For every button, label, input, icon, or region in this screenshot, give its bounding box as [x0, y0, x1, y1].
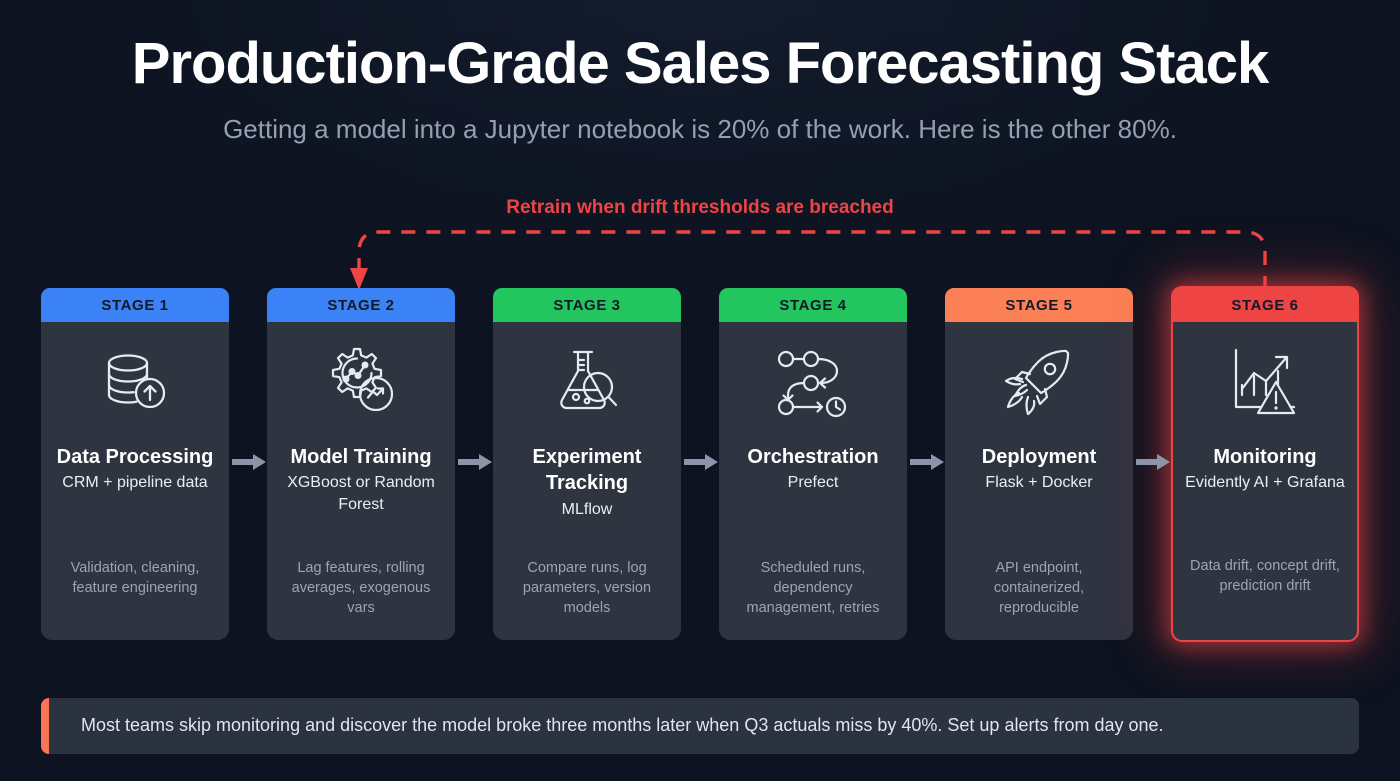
stage-card-1[interactable]: STAGE 1 Data Processing CRM + pipeline d…	[41, 288, 229, 640]
stage-tool-1: CRM + pipeline data	[54, 472, 215, 493]
stage-badge-5: STAGE 5	[945, 288, 1133, 322]
gear-analytics-icon	[323, 336, 399, 428]
connector-arrow-4-5	[910, 454, 944, 470]
stage-tool-2: XGBoost or Random Forest	[267, 472, 455, 515]
stage-desc-3: Compare runs, log parameters, version mo…	[503, 558, 671, 618]
stage-title-2: Model Training	[282, 444, 439, 470]
stage-title-3: Experiment Tracking	[493, 444, 681, 497]
callout-text: Most teams skip monitoring and discover …	[41, 714, 1188, 737]
rocket-icon	[1000, 336, 1078, 428]
stage-desc-6: Data drift, concept drift, prediction dr…	[1183, 556, 1347, 596]
stage-card-2[interactable]: STAGE 2 Model Training XGBoost or Random…	[267, 288, 455, 640]
page-subtitle: Getting a model into a Jupyter notebook …	[0, 114, 1400, 145]
stage-badge-1: STAGE 1	[41, 288, 229, 322]
stage-title-6: Monitoring	[1205, 444, 1324, 470]
stage-title-4: Orchestration	[739, 444, 886, 470]
stage-card-6[interactable]: STAGE 6 Monitoring Evidently AI + Grafan…	[1171, 286, 1359, 642]
stage-badge-4: STAGE 4	[719, 288, 907, 322]
chart-warning-icon	[1226, 336, 1304, 428]
stage-badge-6: STAGE 6	[1173, 288, 1357, 322]
page-title: Production-Grade Sales Forecasting Stack	[0, 34, 1400, 95]
stage-desc-1: Validation, cleaning, feature engineerin…	[51, 558, 219, 598]
stage-badge-2: STAGE 2	[267, 288, 455, 322]
callout-bar: Most teams skip monitoring and discover …	[41, 698, 1359, 754]
database-upload-icon	[98, 336, 172, 428]
stage-tool-5: Flask + Docker	[977, 472, 1100, 493]
connector-arrow-5-6	[1136, 454, 1170, 470]
workflow-clock-icon	[773, 336, 853, 428]
callout-accent-bar	[41, 698, 49, 754]
stage-desc-4: Scheduled runs, dependency management, r…	[729, 558, 897, 618]
stage-card-5[interactable]: STAGE 5 Deployment Flask + Docker API en…	[945, 288, 1133, 640]
connector-arrow-3-4	[684, 454, 718, 470]
stage-tool-4: Prefect	[780, 472, 847, 493]
stage-desc-5: API endpoint, containerized, reproducibl…	[955, 558, 1123, 618]
stage-card-3[interactable]: STAGE 3 Experiment Tracking MLflow Compa…	[493, 288, 681, 640]
stage-badge-3: STAGE 3	[493, 288, 681, 322]
stage-desc-2: Lag features, rolling averages, exogenou…	[277, 558, 445, 618]
connector-arrow-2-3	[458, 454, 492, 470]
flask-magnifier-icon	[549, 336, 625, 428]
stage-title-5: Deployment	[974, 444, 1104, 470]
retrain-loop-arrow	[0, 180, 1400, 300]
stage-tool-3: MLflow	[554, 499, 621, 520]
stage-title-1: Data Processing	[49, 444, 222, 470]
stage-card-4[interactable]: STAGE 4 Orchestration Prefect Scheduled …	[719, 288, 907, 640]
stage-tool-6: Evidently AI + Grafana	[1177, 472, 1353, 493]
connector-arrow-1-2	[232, 454, 266, 470]
